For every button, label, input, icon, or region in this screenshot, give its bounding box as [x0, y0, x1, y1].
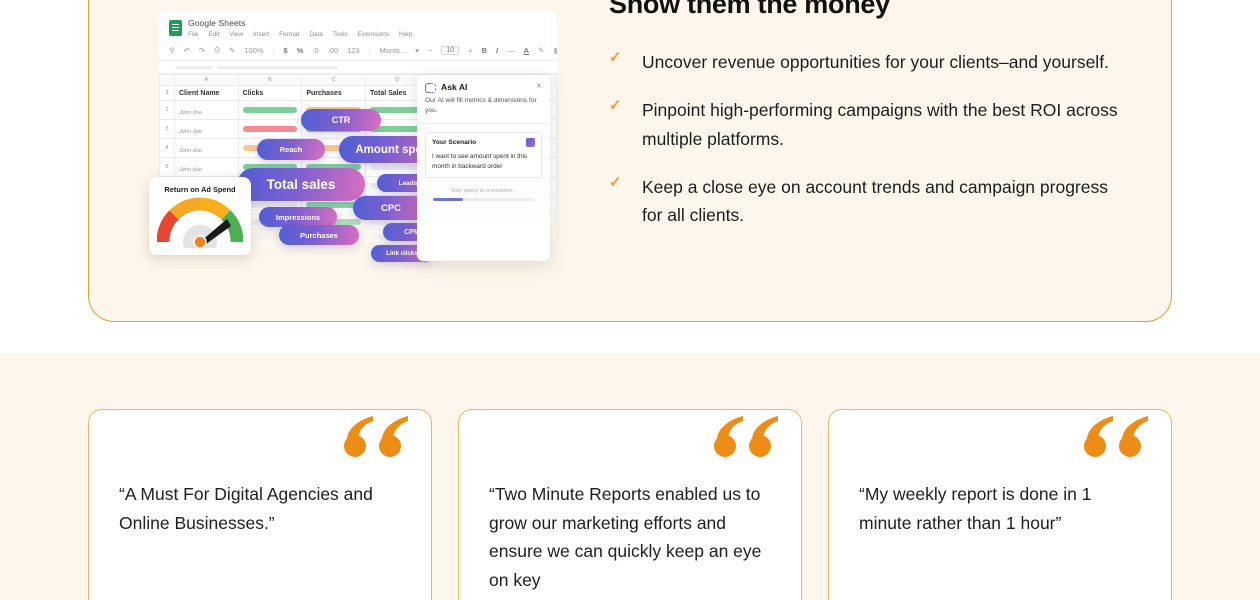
data-bar [243, 126, 298, 132]
cell-purchases[interactable] [302, 196, 366, 215]
data-bar [306, 107, 361, 113]
toolbar-divider: | [273, 46, 275, 55]
scenario-input[interactable]: I want to see amount spent in this month… [432, 152, 535, 173]
cell-purchases[interactable] [302, 101, 366, 120]
data-bar [306, 234, 361, 240]
redo-icon[interactable]: ↷ [199, 46, 205, 55]
percent-icon[interactable]: % [297, 46, 304, 55]
quote-mark-icon [714, 416, 779, 460]
chevron-down-icon[interactable]: ▾ [415, 46, 419, 55]
check-icon: ✓ [609, 173, 623, 193]
scenario-color-swatch[interactable] [526, 138, 535, 147]
data-bar [306, 249, 361, 253]
column-letter-a[interactable]: A [175, 75, 239, 86]
bullet-text: Keep a close eye on account trends and c… [642, 173, 1129, 230]
testimonial-quote: “Two Minute Reports enabled us to grow o… [489, 480, 771, 594]
search-icon[interactable]: ⚲ [169, 46, 175, 55]
status-label: Your query in a moment... [433, 188, 534, 194]
data-bar [243, 164, 298, 170]
testimonial-card-3: “My weekly report is done in 1 minute ra… [828, 409, 1172, 600]
product-mockup: Google Sheets File Edit View Insert Form… [149, 11, 557, 261]
sheets-menubar: File Edit View Insert Format Data Tools … [188, 31, 412, 38]
fill-color-icon[interactable]: ✎ [538, 46, 544, 55]
paint-format-icon[interactable]: ✎ [229, 46, 235, 55]
row-number: 1 [160, 86, 175, 101]
feature-bullet-2: ✓Pinpoint high-performing campaigns with… [609, 96, 1129, 153]
header-client-name: Client Name [175, 86, 239, 101]
data-bar [306, 183, 361, 189]
data-bar [306, 126, 361, 132]
print-icon[interactable]: ⎙ [214, 45, 220, 55]
ask-ai-status: Your query in a moment... [425, 178, 542, 211]
cell-purchases[interactable] [302, 158, 366, 177]
font-family-select[interactable]: Monts... [380, 46, 407, 55]
toolbar-divider-2: | [369, 46, 371, 55]
cell-clicks[interactable] [238, 139, 302, 158]
bullet-text: Pinpoint high-performing campaigns with … [642, 96, 1129, 153]
progress-bar [433, 198, 534, 201]
cell-purchases[interactable] [302, 177, 366, 196]
cell-client-name[interactable]: John doe [175, 120, 239, 139]
text-color-icon[interactable]: A [524, 46, 529, 55]
testimonial-quote: “A Must For Digital Agencies and Online … [119, 480, 401, 537]
menu-item-data[interactable]: Data [309, 31, 323, 38]
row-number: 2 [160, 101, 175, 120]
row-number: 4 [160, 139, 175, 158]
quote-mark-icon [1084, 416, 1149, 460]
scenario-label: Your Scenario [432, 139, 476, 146]
cell-clicks[interactable] [238, 120, 302, 139]
cell-client-name[interactable]: John doe [175, 158, 239, 177]
font-size-increase[interactable]: + [468, 46, 472, 55]
menu-item-edit[interactable]: Edit [208, 31, 219, 38]
ask-ai-title: Ask AI [441, 82, 467, 92]
data-bar [306, 164, 361, 170]
currency-icon[interactable]: $ [284, 46, 288, 55]
decimal-decrease-icon[interactable]: .0 [312, 46, 318, 55]
cell-clicks[interactable] [238, 101, 302, 120]
ask-ai-header: Ask AI × [417, 75, 550, 96]
cell-client-name[interactable]: John doe [175, 139, 239, 158]
cell-clicks[interactable] [238, 158, 302, 177]
sheets-header: Google Sheets File Edit View Insert Form… [159, 11, 557, 40]
menu-item-format[interactable]: Format [279, 31, 299, 38]
roas-gauge-card: Return on Ad Spend [149, 177, 251, 255]
check-icon: ✓ [609, 48, 623, 68]
testimonial-card-2: “Two Minute Reports enabled us to grow o… [458, 409, 802, 600]
feature-bullet-3: ✓Keep a close eye on account trends and … [609, 173, 1129, 230]
bold-icon[interactable]: B [482, 46, 487, 55]
cell-purchases[interactable] [302, 230, 366, 245]
progress-fill [433, 198, 463, 201]
column-letter-c[interactable]: C [302, 75, 366, 86]
formula-input [218, 66, 338, 69]
testimonial-section: “A Must For Digital Agencies and Online … [0, 353, 1260, 600]
menu-item-view[interactable]: View [229, 31, 243, 38]
data-bar [243, 145, 298, 151]
ask-ai-panel: Ask AI × Our AI will fill metrics & dime… [417, 75, 550, 261]
close-icon[interactable]: × [536, 82, 542, 92]
cell-purchases[interactable] [302, 120, 366, 139]
strikethrough-icon[interactable]: ― [507, 46, 515, 55]
cell-purchases[interactable] [302, 215, 366, 230]
data-bar [306, 145, 361, 151]
bullet-text: Uncover revenue opportunities for your c… [642, 48, 1109, 76]
undo-icon[interactable]: ↶ [184, 46, 190, 55]
quote-mark-icon [344, 416, 409, 460]
gauge-chart-icon [157, 194, 243, 248]
menu-item-file[interactable]: File [188, 31, 198, 38]
feature-bullet-1: ✓Uncover revenue opportunities for your … [609, 48, 1129, 76]
sheets-formula-bar[interactable] [159, 61, 557, 74]
sheets-app-name: Google Sheets [188, 18, 412, 28]
cell-client-name[interactable]: John doe [175, 101, 239, 120]
google-sheets-logo-icon [169, 20, 182, 36]
testimonial-card-1: “A Must For Digital Agencies and Online … [88, 409, 432, 600]
scenario-box: Your Scenario I want to see amount spent… [425, 132, 542, 179]
feature-bullet-list: ✓Uncover revenue opportunities for your … [609, 48, 1129, 230]
sheets-toolbar: ⚲ ↶ ↷ ⎙ ✎ 100% | $ % .0 .00 123 | Monts.… [159, 40, 557, 61]
column-letter-b[interactable]: B [238, 75, 302, 86]
gauge-title: Return on Ad Spend [149, 185, 251, 194]
data-bar [306, 202, 361, 208]
font-size-field[interactable]: 10 [441, 46, 459, 55]
feature-copy: Show them the money ✓Uncover revenue opp… [609, 0, 1129, 250]
testimonial-quote: “My weekly report is done in 1 minute ra… [859, 480, 1141, 537]
menu-item-extensions[interactable]: Extensions [358, 31, 389, 38]
menu-item-help[interactable]: Help [399, 31, 412, 38]
cell-purchases[interactable] [302, 245, 366, 254]
check-icon: ✓ [609, 96, 623, 116]
scenario-header: Your Scenario [432, 138, 535, 147]
ask-ai-body: Your Scenario I want to see amount spent… [417, 123, 550, 220]
header-purchases: Purchases [302, 86, 366, 101]
ask-ai-subtitle: Our AI will fill metrics & dimensions fo… [417, 96, 550, 123]
menu-item-insert[interactable]: Insert [253, 31, 269, 38]
feature-card: Google Sheets File Edit View Insert Form… [88, 0, 1172, 322]
header-clicks: Clicks [238, 86, 302, 101]
data-bar [306, 219, 361, 225]
decimal-increase-icon[interactable]: .00 [328, 46, 338, 55]
zoom-level[interactable]: 100% [244, 46, 263, 55]
row-number: 3 [160, 120, 175, 139]
data-bar [243, 107, 298, 113]
font-size-decrease[interactable]: − [428, 46, 432, 55]
page-root: Google Sheets File Edit View Insert Form… [0, 0, 1260, 600]
row-number: 5 [160, 158, 175, 177]
page-title: Show them the money [609, 0, 1129, 20]
cell-purchases[interactable] [302, 139, 366, 158]
corner-cell [160, 75, 175, 86]
borders-icon[interactable]: ▦ [553, 46, 557, 55]
name-box [175, 66, 213, 69]
ai-sparkle-icon [425, 82, 436, 92]
italic-icon[interactable]: I [496, 46, 498, 55]
number-format-icon[interactable]: 123 [347, 46, 360, 55]
menu-item-tools[interactable]: Tools [333, 31, 348, 38]
testimonial-card-row: “A Must For Digital Agencies and Online … [88, 409, 1172, 600]
